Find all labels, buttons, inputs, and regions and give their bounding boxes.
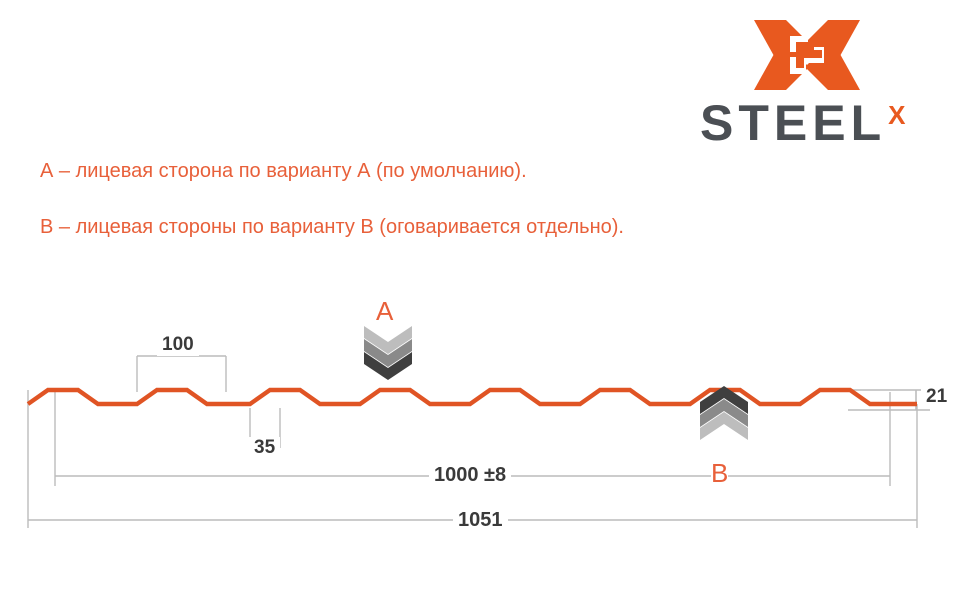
drawing-page: STEEL X А – лицевая сторона по варианту … <box>0 0 970 593</box>
side-b-marker-letter: В <box>711 458 728 489</box>
dimension-label-rib-pitch: 100 <box>157 334 199 356</box>
dimension-lines <box>28 356 917 520</box>
dimension-label-effective-width: 1000 ±8 <box>429 464 511 487</box>
side-a-marker-chevrons <box>364 326 412 380</box>
profile-cross-section-drawing <box>0 0 970 593</box>
trapezoidal-profile-path <box>28 390 917 404</box>
side-a-marker-letter: А <box>376 296 393 327</box>
dimension-label-profile-height: 21 <box>921 386 952 408</box>
dimension-extension-lines <box>28 356 930 528</box>
dimension-label-overall-width: 1051 <box>453 509 508 532</box>
dimension-label-valley-width: 35 <box>249 437 280 459</box>
